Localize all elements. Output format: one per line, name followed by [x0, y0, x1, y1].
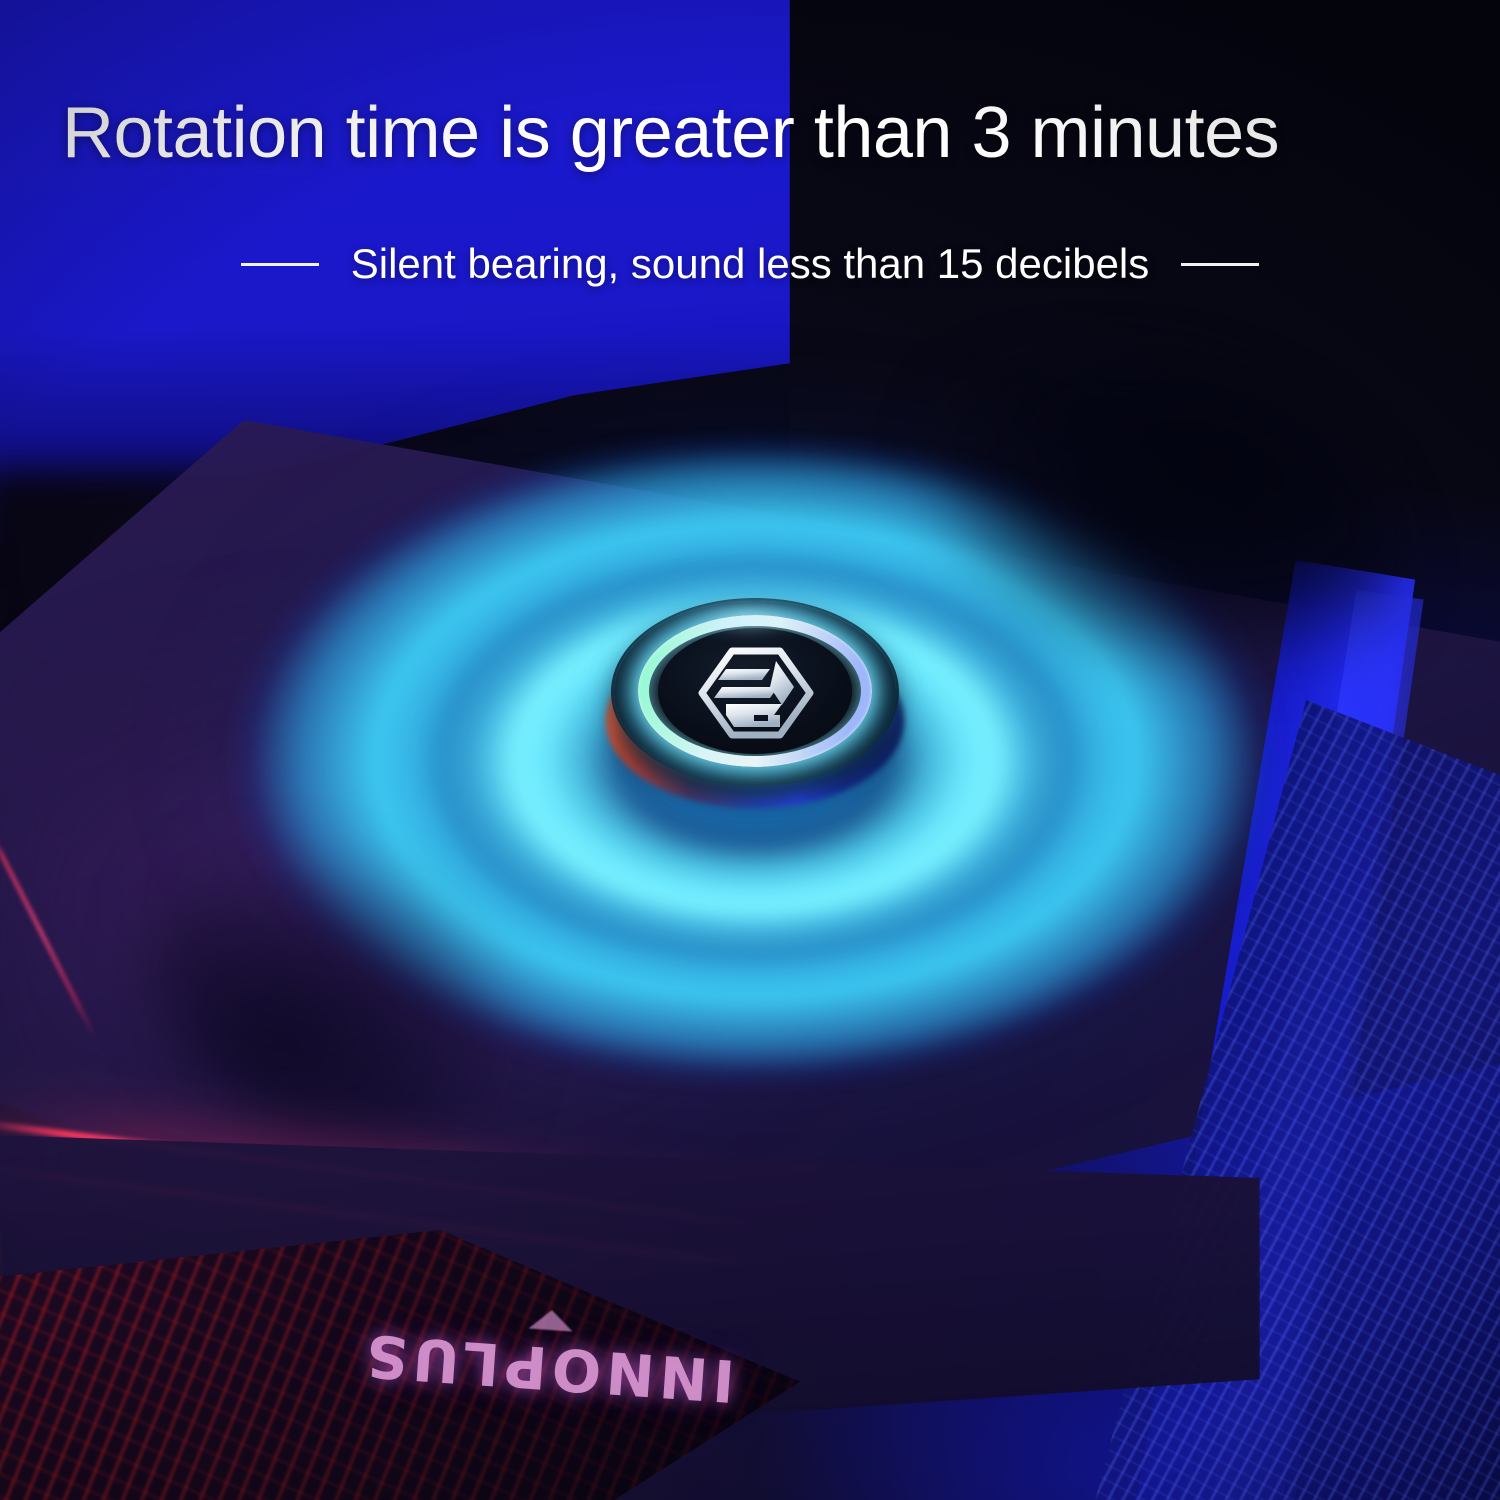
brand-chevron-icon: [529, 1309, 574, 1332]
hub-specular-highlight: [674, 599, 824, 639]
fidget-spinner: [225, 430, 1285, 1090]
eg-hexagon-logo-icon: [696, 647, 816, 739]
product-feature-image: INNOPLUS Rotation time is greater than 3…: [0, 0, 1500, 1500]
spinner-center-hub: [600, 595, 910, 820]
spinner-shadow-lower-left: [145, 730, 665, 1150]
